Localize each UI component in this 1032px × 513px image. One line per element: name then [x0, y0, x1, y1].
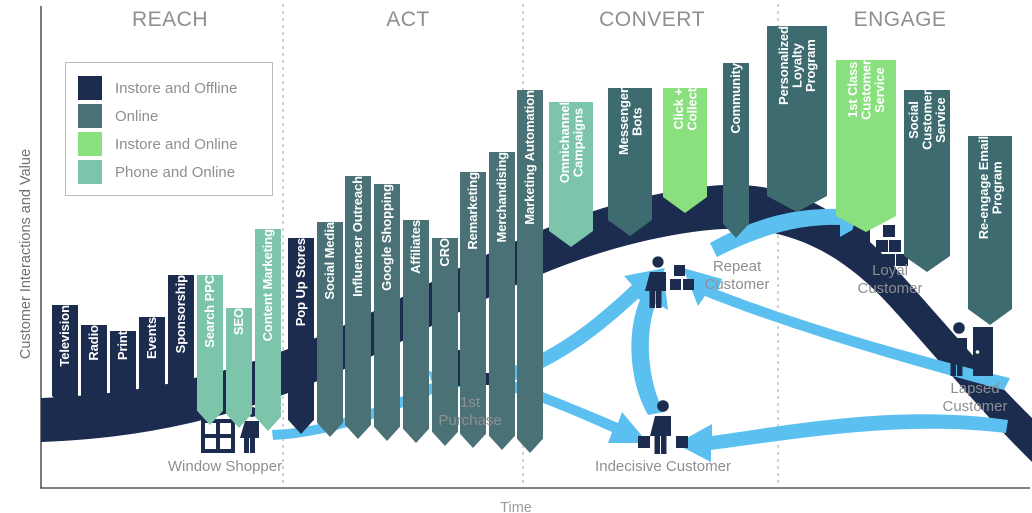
legend-item-instore-online: Instore and Online	[78, 130, 260, 158]
legend-swatch	[78, 160, 102, 184]
touchpoint-tag-label: Messenger Bots	[617, 88, 644, 164]
touchpoint-tag-label: Re-engage Email Program	[977, 136, 1004, 248]
touchpoint-tag[interactable]: Social Media	[317, 222, 343, 437]
touchpoint-tag-label: Google Shopping	[380, 184, 393, 300]
persona-label: Lapsed Customer	[942, 380, 1007, 415]
touchpoint-tag-label: Print	[116, 331, 129, 369]
touchpoint-tag[interactable]: Search PPC	[197, 275, 223, 425]
touchpoint-tag-label: Radio	[87, 325, 100, 370]
section-heading-act: ACT	[386, 8, 430, 32]
touchpoint-tag-label: Marketing Automation	[523, 90, 536, 234]
legend-swatch	[78, 132, 102, 156]
touchpoint-tag[interactable]: Personalized Loyalty Program	[767, 26, 827, 212]
touchpoint-tag-label: Social Media	[323, 222, 336, 309]
legend-label: Phone and Online	[115, 164, 235, 181]
touchpoint-tag-label: Television	[58, 305, 71, 376]
touchpoint-tag[interactable]: Messenger Bots	[608, 88, 652, 236]
touchpoint-tag-label: Community	[729, 63, 742, 143]
persona-label: Indecisive Customer	[595, 458, 731, 476]
persona-label: Loyal Customer	[857, 262, 922, 297]
touchpoint-tag-label: Search PPC	[203, 275, 216, 357]
touchpoint-tag-label: 1st Class Customer Service	[846, 60, 886, 129]
legend-label: Instore and Online	[115, 136, 238, 153]
touchpoint-tag[interactable]: SEO	[226, 308, 252, 428]
touchpoint-tag[interactable]: Marketing Automation	[517, 90, 543, 453]
legend-item-online: Online	[78, 102, 260, 130]
touchpoint-tag-label: CRO	[438, 238, 451, 276]
touchpoint-tag[interactable]: Influencer Outreach	[345, 176, 371, 439]
touchpoint-tag[interactable]: Sponsorship	[168, 275, 194, 422]
legend: Instore and Offline Online Instore and O…	[65, 62, 273, 196]
touchpoint-tag[interactable]: Community	[723, 63, 749, 238]
touchpoint-tag[interactable]: Radio	[81, 325, 107, 413]
touchpoint-tag-label: Pop Up Stores	[294, 238, 307, 335]
y-axis-label: Customer Interactions and Value	[18, 124, 34, 384]
touchpoint-tag-label: Omnichannel Campaigns	[558, 102, 585, 192]
persona-label: Window Shopper	[168, 458, 282, 476]
touchpoint-tag-label: Affiliates	[409, 220, 422, 283]
touchpoint-tag[interactable]: Content Marketing	[255, 229, 281, 431]
touchpoint-tag-label: Social Customer Service	[907, 90, 947, 159]
touchpoint-tag[interactable]: Omnichannel Campaigns	[549, 102, 593, 247]
customer-journey-diagram: REACH ACT CONVERT ENGAGE Customer Intera…	[0, 0, 1032, 513]
persona-label: 1st Purchase	[438, 394, 501, 429]
touchpoint-tag-label: Click + Collect	[672, 88, 699, 140]
touchpoint-tag[interactable]: Events	[139, 317, 165, 420]
legend-item-phone-online: Phone and Online	[78, 158, 260, 186]
touchpoint-tag-label: Sponsorship	[174, 275, 187, 362]
section-heading-reach: REACH	[132, 8, 208, 32]
touchpoint-tag[interactable]: Re-engage Email Program	[968, 136, 1012, 325]
touchpoint-tag[interactable]: Pop Up Stores	[288, 238, 314, 434]
legend-item-instore-offline: Instore and Offline	[78, 74, 260, 102]
legend-label: Online	[115, 108, 158, 125]
touchpoint-tag[interactable]: Google Shopping	[374, 184, 400, 441]
touchpoint-tag-label: Events	[145, 317, 158, 368]
x-axis-label: Time	[500, 500, 532, 513]
touchpoint-tag-label: Merchandising	[495, 152, 508, 251]
touchpoint-tag[interactable]: Social Customer Service	[904, 90, 950, 272]
touchpoint-tag-label: SEO	[232, 308, 245, 344]
persona-label: Repeat Customer	[704, 258, 769, 293]
legend-swatch	[78, 104, 102, 128]
touchpoint-tag[interactable]: Click + Collect	[663, 88, 707, 213]
touchpoint-tag-label: Personalized Loyalty Program	[777, 26, 817, 114]
person-three-boxes-icon	[645, 256, 694, 308]
touchpoint-tag[interactable]: Print	[110, 331, 136, 417]
touchpoint-tag-label: Content Marketing	[261, 229, 274, 350]
touchpoint-tag[interactable]: Affiliates	[403, 220, 429, 443]
touchpoint-tag-label: Influencer Outreach	[351, 176, 364, 306]
section-heading-engage: ENGAGE	[854, 8, 947, 32]
section-heading-convert: CONVERT	[599, 8, 705, 32]
touchpoint-tag-label: Remarketing	[466, 172, 479, 259]
touchpoint-tag[interactable]: 1st Class Customer Service	[836, 60, 896, 232]
touchpoint-tag[interactable]: Television	[52, 305, 78, 410]
legend-swatch	[78, 76, 102, 100]
legend-label: Instore and Offline	[115, 80, 237, 97]
